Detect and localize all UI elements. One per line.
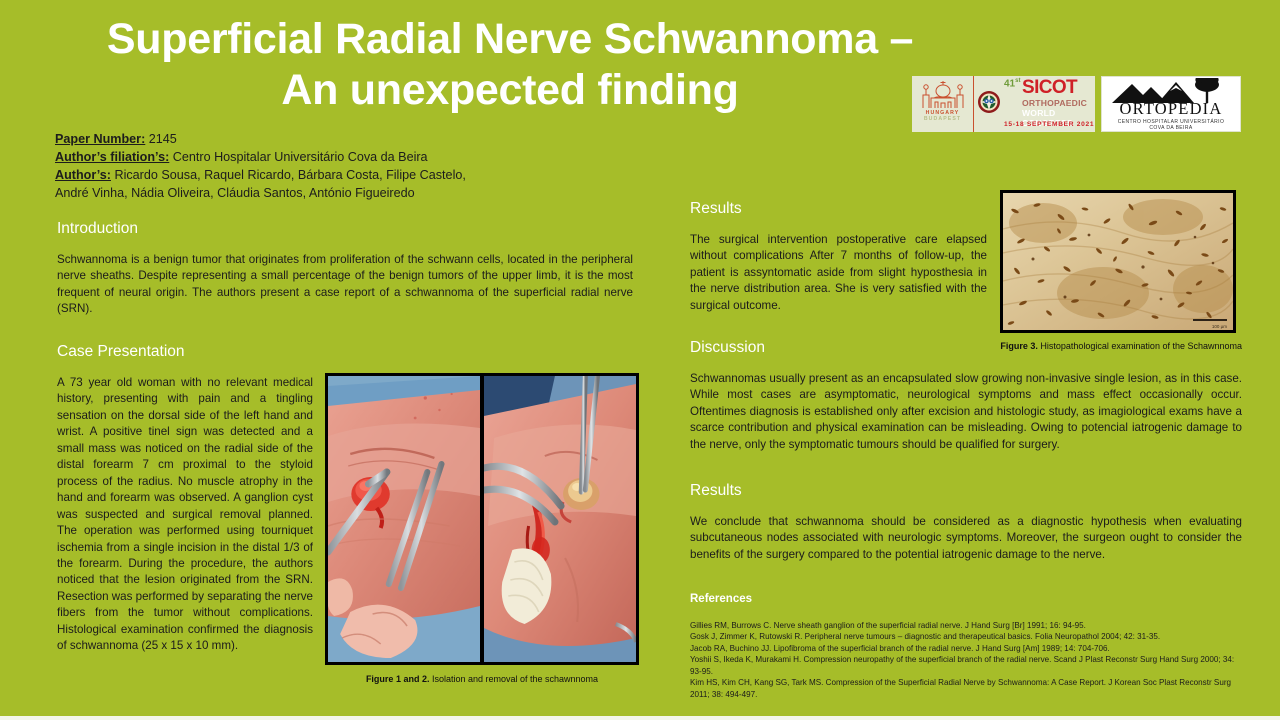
figure-3-caption-text: Histopathological examination of the Sch… bbox=[1038, 341, 1242, 351]
section-body-results-1: The surgical intervention postoperative … bbox=[690, 232, 987, 314]
paper-number-value: 2145 bbox=[149, 132, 177, 146]
reference-item: Yoshii S, Ikeda K, Murakami H. Compressi… bbox=[690, 654, 1242, 677]
section-heading-results-1: Results bbox=[690, 200, 742, 218]
authors-line-2: André Vinha, Nádia Oliveira, Cláudia San… bbox=[55, 186, 415, 200]
authors-line-1: Ricardo Sousa, Raquel Ricardo, Bárbara C… bbox=[114, 168, 465, 182]
page-title-line1: Superficial Radial Nerve Schwannoma – bbox=[70, 14, 950, 65]
sicot-congress-logo: HUNGARY BUDAPEST 41st SICOT OR bbox=[912, 76, 1095, 132]
sicot-logo-text-block: 41st SICOT ORTHOPAEDIC WORLD CONGRESS 15… bbox=[974, 76, 1095, 132]
ortopedia-hospital-logo: ORTOPEDIA CENTRO HOSPITALAR UNIVERSITÁRI… bbox=[1101, 76, 1241, 132]
scale-bar bbox=[1193, 319, 1227, 321]
sicot-logo-location-block: HUNGARY BUDAPEST bbox=[912, 76, 974, 132]
page-title-line2: An unexpected finding bbox=[70, 65, 950, 116]
figure-3-image: 100 µm bbox=[1000, 190, 1236, 333]
sicot-orthopaedic-label: ORTHOPAEDIC bbox=[1022, 98, 1087, 108]
surgery-photo-left bbox=[328, 376, 480, 662]
bottom-edge-strip bbox=[0, 716, 1280, 720]
filiation-value: Centro Hospitalar Universitário Cova da … bbox=[173, 150, 428, 164]
figure-3-caption: Figure 3. Histopathological examination … bbox=[870, 341, 1242, 351]
sicot-edition-number: 41st bbox=[1004, 78, 1020, 89]
figure-1-and-2-caption-text: Isolation and removal of the schawnnoma bbox=[429, 674, 598, 684]
section-heading-discussion: Discussion bbox=[690, 339, 765, 357]
authors-row: Author’s: Ricardo Sousa, Raquel Ricardo,… bbox=[55, 166, 615, 184]
authors-row-continued: André Vinha, Nádia Oliveira, Cláudia San… bbox=[55, 184, 615, 202]
reference-item: Gillies RM, Burrows C. Nerve sheath gang… bbox=[690, 620, 1242, 631]
figure-1-and-2-caption: Figure 1 and 2. Isolation and removal of… bbox=[325, 674, 639, 684]
paper-number-label: Paper Number: bbox=[55, 132, 145, 146]
filiation-label: Author’s filiation’s: bbox=[55, 150, 169, 164]
figure-3-caption-label: Figure 3. bbox=[1000, 341, 1038, 351]
section-heading-introduction: Introduction bbox=[57, 220, 138, 238]
section-body-introduction: Schwannoma is a benign tumor that origin… bbox=[57, 252, 633, 318]
basilica-icon bbox=[919, 79, 967, 109]
ortopedia-wordmark: ORTOPEDIA bbox=[1119, 99, 1222, 119]
section-body-case-presentation: A 73 year old woman with no relevant med… bbox=[57, 375, 313, 655]
reference-list: Gillies RM, Burrows C. Nerve sheath gang… bbox=[690, 620, 1242, 700]
surgery-photo-right bbox=[484, 376, 636, 662]
sicot-city-label: BUDAPEST bbox=[924, 116, 961, 122]
scale-bar-label: 100 µm bbox=[1212, 324, 1227, 329]
section-heading-results-2: Results bbox=[690, 482, 742, 500]
authors-label: Author’s: bbox=[55, 168, 111, 182]
figure-1-and-2-caption-label: Figure 1 and 2. bbox=[366, 674, 430, 684]
section-heading-case-presentation: Case Presentation bbox=[57, 343, 185, 361]
sicot-emblem-icon bbox=[977, 90, 1001, 119]
paper-number-row: Paper Number: 2145 bbox=[55, 130, 615, 148]
reference-item: Jacob RA, Buchino JJ. Lipofibroma of the… bbox=[690, 643, 1242, 654]
figure-1-and-2-image bbox=[325, 373, 639, 665]
filiation-row: Author’s filiation’s: Centro Hospitalar … bbox=[55, 148, 615, 166]
section-body-discussion: Schwannomas usually present as an encaps… bbox=[690, 371, 1242, 453]
section-body-results-2: We conclude that schwannoma should be co… bbox=[690, 514, 1242, 563]
page-title: Superficial Radial Nerve Schwannoma – An… bbox=[70, 14, 950, 115]
histopathology-slide: 100 µm bbox=[1003, 193, 1233, 330]
sicot-wordmark: SICOT bbox=[1022, 77, 1077, 99]
sicot-dates-label: 15-18 SEPTEMBER 2021 bbox=[1004, 121, 1094, 128]
poster-canvas: Superficial Radial Nerve Schwannoma – An… bbox=[0, 0, 1280, 720]
ortopedia-subtitle-2: COVA DA BEIRA bbox=[1149, 125, 1192, 131]
reference-item: Gosk J, Zimmer K, Rutowski R. Peripheral… bbox=[690, 631, 1242, 642]
reference-item: Kim HS, Kim CH, Kang SG, Tark MS. Compre… bbox=[690, 677, 1242, 700]
poster-metadata: Paper Number: 2145 Author’s filiation’s:… bbox=[55, 130, 615, 203]
section-heading-references: References bbox=[690, 593, 752, 605]
